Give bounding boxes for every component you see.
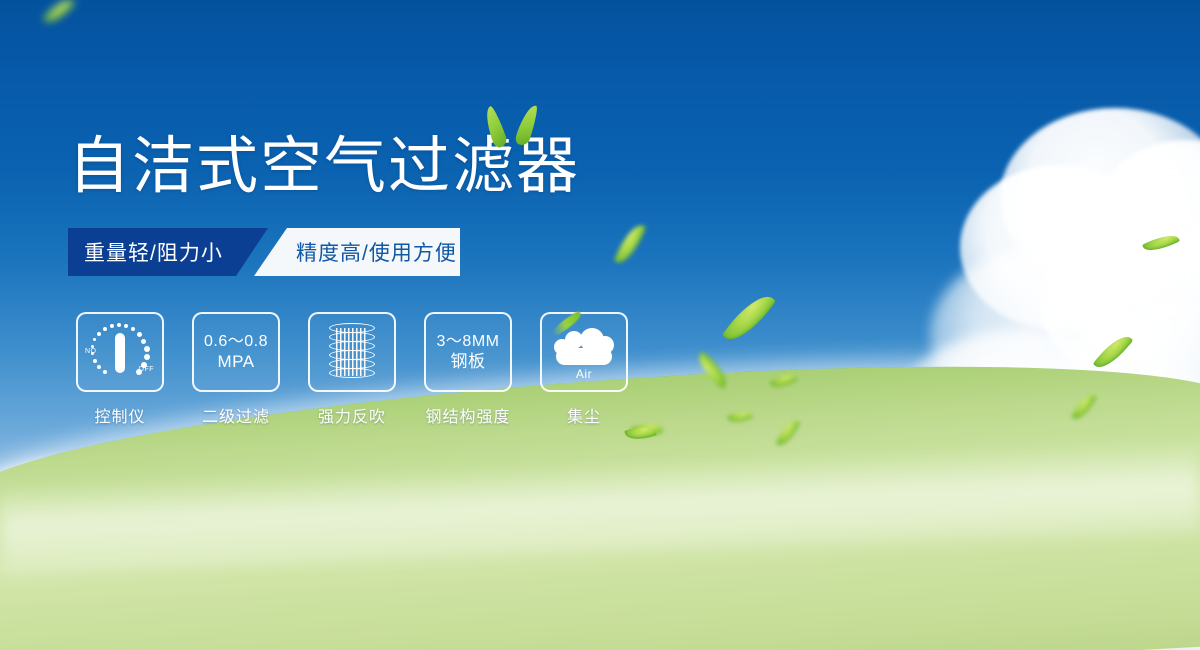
pressure-text-icon: 0.6～0.8 MPA <box>204 332 268 372</box>
feature-list: NO OFF 控制仪 0.6～0.8 MPA 二级过滤 <box>68 312 768 427</box>
gauge-needle <box>115 333 125 373</box>
air-label: Air <box>552 367 616 381</box>
feature-label: 集尘 <box>532 403 636 427</box>
subtitle-right-panel: 精度高/使用方便 <box>254 228 460 276</box>
feature-icon-box: NO OFF <box>76 312 164 392</box>
feature-item-strong-backblow[interactable]: 强力反吹 <box>300 312 404 427</box>
feature-label: 钢结构强度 <box>416 403 520 427</box>
feature-item-two-stage-filtration[interactable]: 0.6～0.8 MPA 二级过滤 <box>184 312 288 427</box>
steel-line-1: 3～8MM <box>437 332 500 352</box>
gauge-dial-icon: NO OFF <box>85 321 155 383</box>
feature-icon-box: Air <box>540 312 628 392</box>
pressure-line-1: 0.6～0.8 <box>204 332 268 352</box>
subtitle-bar: 重量轻/阻力小 精度高/使用方便 <box>68 228 460 276</box>
feature-label: 控制仪 <box>68 403 172 427</box>
feature-item-controller[interactable]: NO OFF 控制仪 <box>68 312 172 427</box>
feature-item-dust-collection[interactable]: Air 集尘 <box>532 312 636 427</box>
subtitle-right-text: 精度高/使用方便 <box>254 237 457 267</box>
page-title: 自洁式空气过滤器 <box>68 128 768 206</box>
banner-content: 自洁式空气过滤器 重量轻/阻力小 精度高/使用方便 <box>68 128 768 427</box>
feature-icon-box: 0.6～0.8 MPA <box>192 312 280 392</box>
steel-plate-text-icon: 3～8MM 钢板 <box>437 332 500 372</box>
cloud-base <box>556 348 612 365</box>
feature-icon-box <box>308 312 396 392</box>
filter-cartridge-icon <box>329 323 375 381</box>
title-row: 自洁式空气过滤器 <box>68 128 768 210</box>
feature-label: 强力反吹 <box>300 403 404 427</box>
steel-line-2: 钢板 <box>437 352 500 372</box>
gauge-off-label: OFF <box>139 366 155 373</box>
gauge-no-label: NO <box>85 348 97 355</box>
subtitle-left-text: 重量轻/阻力小 <box>68 237 223 267</box>
subtitle-left-panel: 重量轻/阻力小 <box>68 228 268 276</box>
cloud-air-icon: Air <box>552 323 616 381</box>
feature-label: 二级过滤 <box>184 403 288 427</box>
feature-item-steel-structure-strength[interactable]: 3～8MM 钢板 钢结构强度 <box>416 312 520 427</box>
product-banner: 自洁式空气过滤器 重量轻/阻力小 精度高/使用方便 <box>0 0 1200 650</box>
pressure-line-2: MPA <box>204 352 268 372</box>
feature-icon-box: 3～8MM 钢板 <box>424 312 512 392</box>
